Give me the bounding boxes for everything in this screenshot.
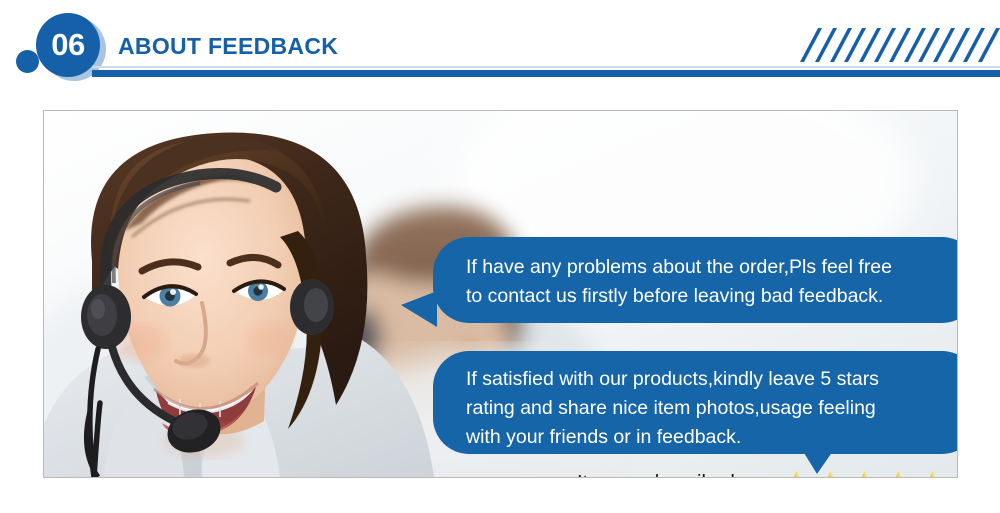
feedback-photo-panel: If have any problems about the order,Pls… <box>43 110 958 478</box>
bubble-2-line-2: rating and share nice item photos,usage … <box>466 394 952 423</box>
star-icon <box>917 469 948 479</box>
bubble-1-line-1: If have any problems about the order,Pls… <box>466 253 952 282</box>
bubble-1-tail <box>401 291 437 327</box>
feedback-banner: 06 ABOUT FEEDBACK <box>0 0 1000 513</box>
decorative-dot <box>16 50 39 73</box>
section-number-badge: 06 <box>36 13 100 77</box>
page-title: ABOUT FEEDBACK <box>118 33 338 60</box>
star-icon <box>849 469 880 479</box>
star-icon <box>815 469 846 479</box>
star-rating-item-as-described <box>781 469 948 479</box>
speech-bubble-five-stars: If satisfied with our products,kindly le… <box>433 351 958 454</box>
section-number: 06 <box>51 29 84 60</box>
bubble-2-line-3: with your friends or in feedback. <box>466 423 952 452</box>
header-rule-light <box>92 66 1000 68</box>
rating-row: Item as described: <box>577 463 958 478</box>
rating-label-item-as-described: Item as described: <box>577 472 777 478</box>
star-icon <box>883 469 914 479</box>
header-rule-bold <box>92 70 1000 77</box>
section-header: 06 ABOUT FEEDBACK <box>0 0 1000 95</box>
bubble-2-line-1: If satisfied with our products,kindly le… <box>466 365 952 394</box>
bubble-1-line-2: to contact us firstly before leaving bad… <box>466 282 952 311</box>
speech-bubble-order-problem: If have any problems about the order,Pls… <box>433 237 958 323</box>
diagonal-stripes-decoration <box>800 28 992 62</box>
star-icon <box>781 469 812 479</box>
ratings-list: Item as described: Communication: Shippi… <box>577 463 958 478</box>
